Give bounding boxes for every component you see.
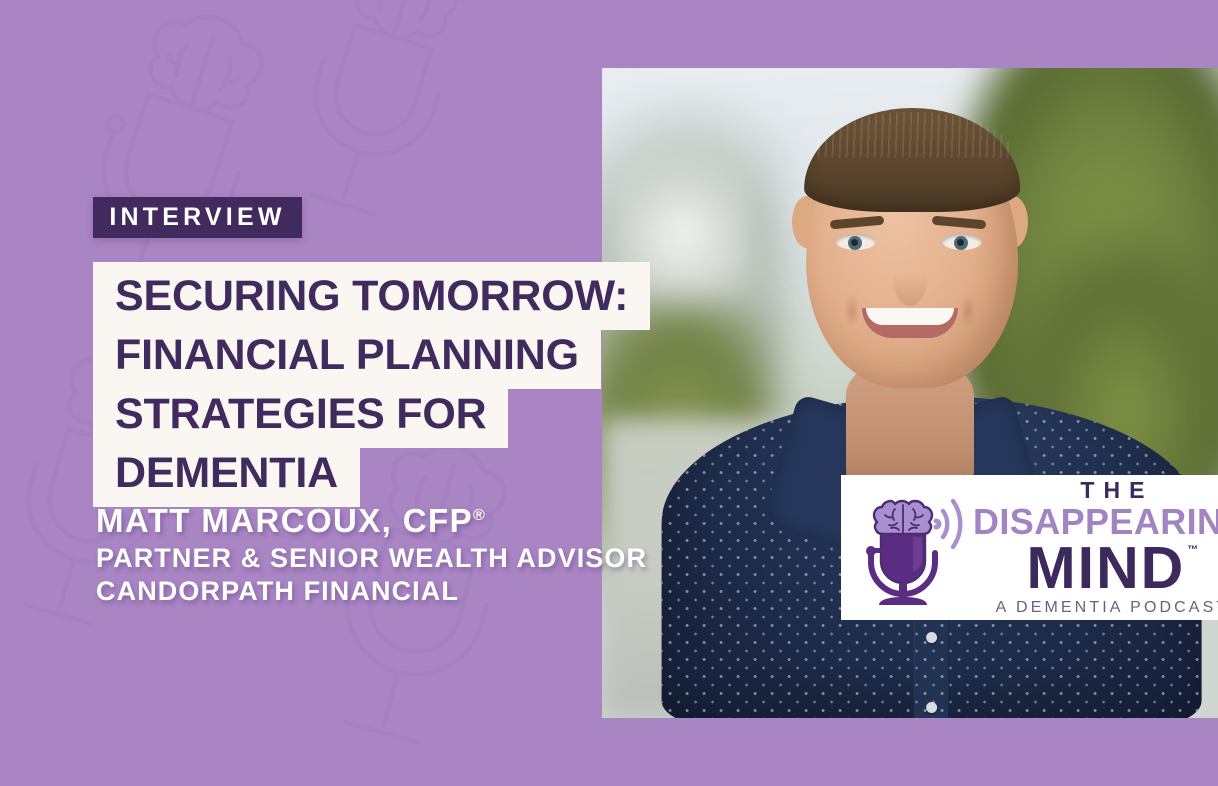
photo-person-smile-line-left xyxy=(844,294,860,328)
speaker-role: PARTNER & SENIOR WEALTH ADVISOR xyxy=(96,542,647,574)
photo-person-mouth xyxy=(862,308,958,338)
podcast-logo-wordmark: THE DISAPPEARING MIND ™ A DEMENTIA PODCA… xyxy=(973,479,1218,616)
episode-title-line-3: STRATEGIES FOR xyxy=(93,380,508,448)
speaker-credits: MATT MARCOUX, CFP® PARTNER & SENIOR WEAL… xyxy=(96,502,647,608)
episode-title-line-1: SECURING TOMORROW: xyxy=(93,262,650,330)
logo-text-the: THE xyxy=(1080,479,1153,502)
episode-title-line-2: FINANCIAL PLANNING xyxy=(93,321,601,389)
photo-person-eye-right xyxy=(942,234,982,250)
photo-shirt-button xyxy=(926,632,937,643)
episode-title-line-4: DEMENTIA xyxy=(93,439,360,507)
speaker-photo xyxy=(602,68,1218,718)
episode-title: SECURING TOMORROW: FINANCIAL PLANNING ST… xyxy=(93,262,650,507)
photo-person-nose xyxy=(893,250,927,306)
speaker-company: CANDORPATH FINANCIAL xyxy=(96,575,647,607)
logo-text-mind: MIND xyxy=(1027,541,1186,595)
photo-person-eye-left xyxy=(836,234,876,250)
podcast-episode-promo-card: INTERVIEW SECURING TOMORROW: FINANCIAL P… xyxy=(0,0,1218,786)
podcast-logo: THE DISAPPEARING MIND ™ A DEMENTIA PODCA… xyxy=(841,475,1218,620)
logo-trademark-mark: ™ xyxy=(1187,545,1198,556)
brain-microphone-icon xyxy=(855,485,967,611)
registered-trademark-mark: ® xyxy=(473,507,486,524)
speaker-name: MATT MARCOUX, CFP® xyxy=(96,502,647,540)
logo-tagline: A DEMENTIA PODCAST xyxy=(996,600,1218,616)
speaker-name-text: MATT MARCOUX, CFP xyxy=(96,502,473,539)
photo-shirt-button xyxy=(926,702,937,713)
interview-badge-label: INTERVIEW xyxy=(109,205,285,230)
interview-badge: INTERVIEW xyxy=(93,197,302,238)
photo-person-smile-line-right xyxy=(960,294,976,328)
